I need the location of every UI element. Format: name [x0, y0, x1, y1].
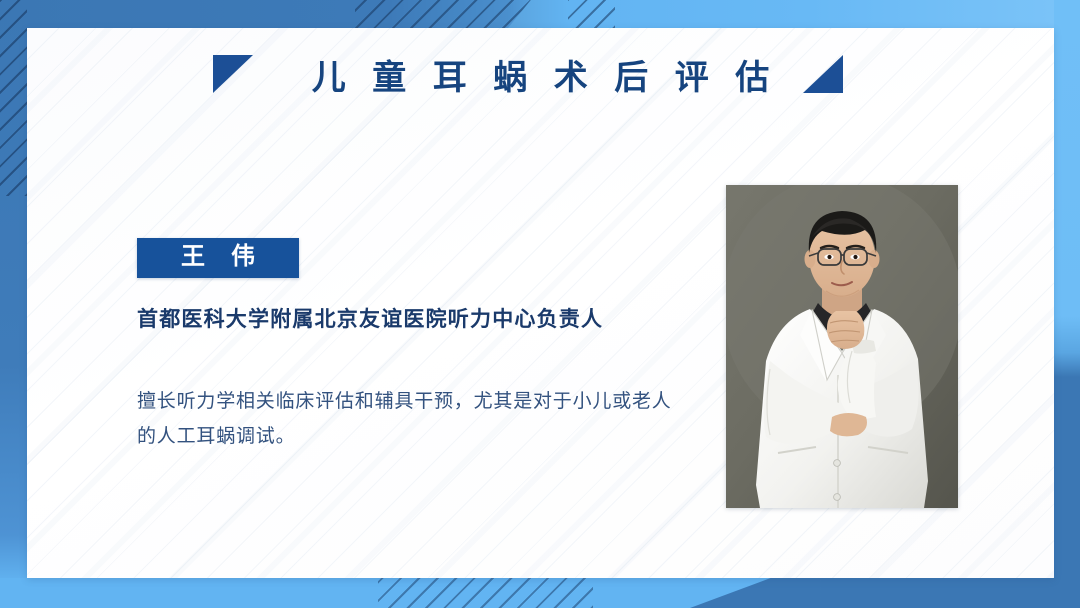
- speaker-bio: 擅长听力学相关临床评估和辅具干预，尤其是对于小儿或老人的人工耳蜗调试。: [137, 384, 685, 454]
- top-band-stripes: [355, 0, 615, 28]
- bottom-band-stripes: [378, 578, 593, 608]
- speaker-name-badge: 王 伟: [137, 238, 299, 278]
- speaker-portrait-photo: [726, 185, 958, 508]
- content-card: 儿 童 耳 蜗 术 后 评 估 王 伟 首都医科大学附属北京友谊医院听力中心负责…: [27, 28, 1054, 578]
- left-band-stripes: [0, 0, 27, 196]
- page-title: 儿 童 耳 蜗 术 后 评 估: [27, 50, 1054, 99]
- right-blue-band: [1054, 0, 1080, 608]
- slide-root: 儿 童 耳 蜗 术 后 评 估 王 伟 首都医科大学附属北京友谊医院听力中心负责…: [0, 0, 1080, 608]
- speaker-job-title: 首都医科大学附属北京友谊医院听力中心负责人: [137, 304, 697, 336]
- speaker-info: 王 伟 首都医科大学附属北京友谊医院听力中心负责人 擅长听力学相关临床评估和辅具…: [137, 238, 697, 454]
- portrait-illustration: [726, 185, 958, 508]
